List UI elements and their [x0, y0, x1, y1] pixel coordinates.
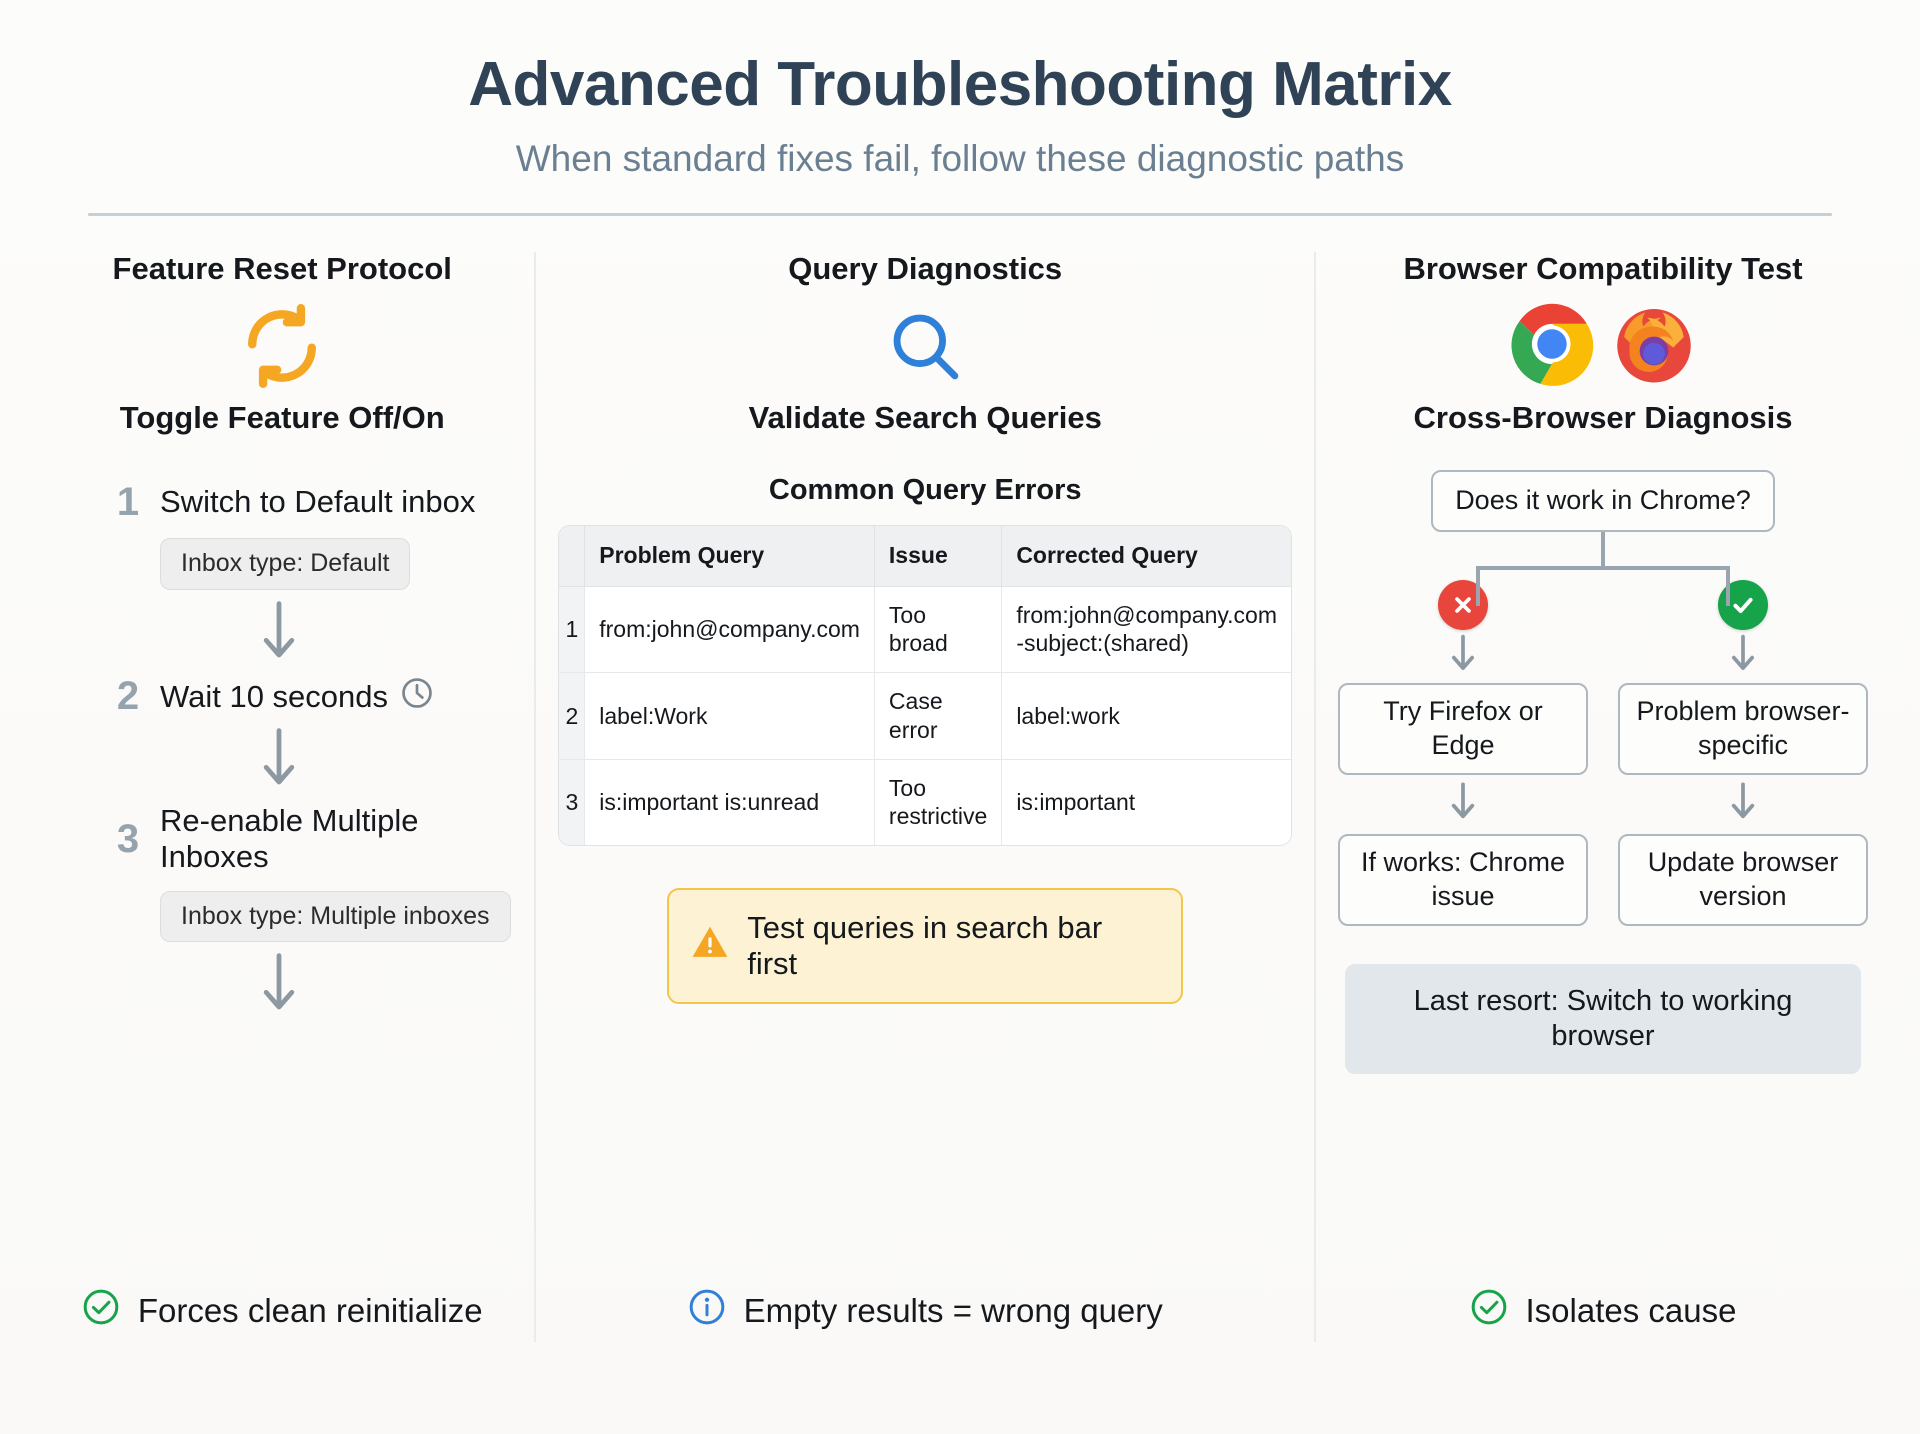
firefox-icon: [1612, 302, 1696, 391]
row-index: 2: [559, 673, 585, 760]
connector-bar: [1476, 566, 1730, 570]
column-subtitle-feature-reset: Toggle Feature Off/On: [120, 400, 445, 436]
cell-problem-query: label:Work: [585, 673, 875, 760]
cell-issue: Case error: [875, 673, 1002, 760]
tree-branch-pass: Problem browser-specific Update browser …: [1618, 606, 1868, 926]
cell-corrected-query: label:work: [1002, 673, 1291, 760]
last-resort-banner: Last resort: Switch to working browser: [1345, 964, 1861, 1074]
cell-corrected-query: from:john@company.com -subject:(shared): [1002, 587, 1291, 674]
step-number: 2: [114, 676, 142, 716]
troubleshooting-matrix-page: Advanced Troubleshooting Matrix When sta…: [0, 0, 1920, 1434]
search-icon: [886, 300, 964, 392]
check-circle-icon: [82, 1288, 120, 1334]
inbox-type-chip: Inbox type: Multiple inboxes: [160, 891, 511, 943]
column-subtitle-query-diagnostics: Validate Search Queries: [749, 400, 1102, 436]
tree-node-try-firefox-edge: Try Firefox or Edge: [1338, 683, 1588, 775]
column-title-browser-compat: Browser Compatibility Test: [1403, 252, 1802, 286]
step-text: Re-enable Multiple Inboxes: [160, 803, 512, 874]
row-index: 1: [559, 587, 585, 674]
step-item-3: 3 Re-enable Multiple Inboxes Inbox type:…: [52, 803, 512, 942]
table-row: 1 from:john@company.com Too broad from:j…: [559, 587, 1291, 674]
step-label: Switch to Default inbox: [160, 484, 475, 520]
column-title-feature-reset: Feature Reset Protocol: [113, 252, 452, 286]
cell-problem-query: is:important is:unread: [585, 760, 875, 846]
column-feature-reset: Feature Reset Protocol Toggle Feature Of…: [30, 252, 534, 1342]
column-header-index: [559, 526, 585, 587]
step-item-2: 2 Wait 10 seconds: [52, 676, 512, 718]
table-row: 3 is:important is:unread Too restrictive…: [559, 760, 1291, 846]
tree-branch-fail: Try Firefox or Edge If works: Chrome iss…: [1338, 606, 1588, 926]
column-subtitle-browser-compat: Cross-Browser Diagnosis: [1414, 400, 1793, 436]
column-browser-compat: Browser Compatibility Test: [1314, 252, 1890, 1342]
chrome-icon: [1510, 302, 1594, 391]
inbox-type-chip: Inbox type: Default: [160, 538, 410, 590]
tree-node-update-browser: Update browser version: [1618, 834, 1868, 926]
warning-callout: Test queries in search bar first: [667, 888, 1183, 1004]
warning-text: Test queries in search bar first: [747, 910, 1159, 982]
table-header-row: Problem Query Issue Corrected Query: [559, 526, 1291, 587]
arrow-down-icon: [1727, 779, 1759, 832]
cell-corrected-query: is:important: [1002, 760, 1291, 846]
warning-triangle-icon: [691, 923, 729, 969]
clock-icon: [400, 676, 434, 718]
cell-issue: Too restrictive: [875, 760, 1002, 846]
step-row: 1 Switch to Default inbox: [52, 482, 512, 522]
arrow-down-icon: [52, 727, 512, 793]
step-number: 3: [114, 819, 142, 859]
arrow-down-icon: [52, 600, 512, 666]
columns-container: Feature Reset Protocol Toggle Feature Of…: [0, 252, 1920, 1342]
step-label: Wait 10 seconds: [160, 676, 434, 718]
column-query-diagnostics: Query Diagnostics Validate Search Querie…: [534, 252, 1314, 1342]
reset-steps-list: 1 Switch to Default inbox Inbox type: De…: [52, 482, 512, 1028]
arrow-down-icon: [1447, 634, 1479, 681]
cell-problem-query: from:john@company.com: [585, 587, 875, 674]
table-row: 2 label:Work Case error label:work: [559, 673, 1291, 760]
info-circle-icon: [688, 1288, 726, 1334]
page-subtitle: When standard fixes fail, follow these d…: [0, 137, 1920, 181]
column-header-issue: Issue: [875, 526, 1002, 587]
refresh-cycle-icon: [240, 300, 324, 392]
tree-branch-row: Try Firefox or Edge If works: Chrome iss…: [1338, 606, 1868, 926]
step-row: 3 Re-enable Multiple Inboxes: [52, 803, 512, 874]
tree-node-browser-specific: Problem browser-specific: [1618, 683, 1868, 775]
step-chip-wrap: Inbox type: Multiple inboxes: [52, 875, 512, 943]
arrow-down-icon: [1727, 634, 1759, 681]
connector-right-drop: [1726, 566, 1730, 606]
common-query-errors-table: Problem Query Issue Corrected Query 1 fr…: [558, 525, 1292, 846]
header-divider: [88, 213, 1832, 216]
outcome-text: Forces clean reinitialize: [138, 1292, 483, 1330]
column-footer-browser-compat: Isolates cause: [1316, 1288, 1890, 1334]
step-label: Re-enable Multiple Inboxes: [160, 803, 512, 874]
tree-connector: [1338, 532, 1868, 606]
footer-text: Isolates cause: [1526, 1292, 1737, 1330]
footer-text: Empty results = wrong query: [744, 1292, 1163, 1330]
step-row: 2 Wait 10 seconds: [52, 676, 512, 718]
page-title: Advanced Troubleshooting Matrix: [0, 52, 1920, 119]
table-section-label: Common Query Errors: [769, 474, 1082, 507]
arrow-down-icon: [52, 952, 512, 1018]
connector-left-drop: [1476, 566, 1480, 606]
step-item-1: 1 Switch to Default inbox Inbox type: De…: [52, 482, 512, 590]
step-number: 1: [114, 482, 142, 522]
step-text: Wait 10 seconds: [160, 679, 388, 715]
check-circle-icon: [1470, 1288, 1508, 1334]
row-index: 3: [559, 760, 585, 846]
decision-tree: Does it work in Chrome?: [1338, 470, 1868, 1074]
step-text: Switch to Default inbox: [160, 484, 475, 520]
column-title-query-diagnostics: Query Diagnostics: [788, 252, 1062, 286]
cell-issue: Too broad: [875, 587, 1002, 674]
tree-node-root: Does it work in Chrome?: [1431, 470, 1775, 532]
browser-icons-row: [1510, 300, 1696, 392]
arrow-down-icon: [1447, 779, 1479, 832]
tree-node-chrome-issue: If works: Chrome issue: [1338, 834, 1588, 926]
column-header-corrected-query: Corrected Query: [1002, 526, 1291, 587]
page-header: Advanced Troubleshooting Matrix When sta…: [0, 0, 1920, 216]
connector-stem: [1601, 532, 1605, 570]
column-footer-feature-reset: Forces clean reinitialize: [30, 1288, 534, 1334]
column-footer-query-diagnostics: Empty results = wrong query: [536, 1288, 1314, 1334]
step-chip-wrap: Inbox type: Default: [52, 522, 512, 590]
column-header-problem-query: Problem Query: [585, 526, 875, 587]
